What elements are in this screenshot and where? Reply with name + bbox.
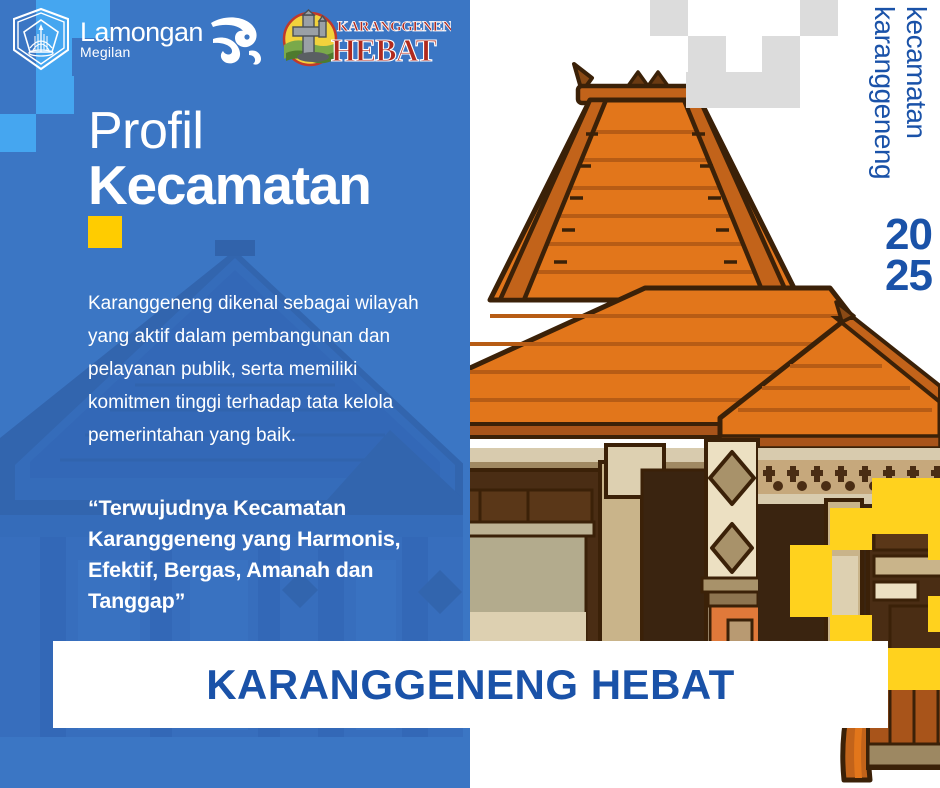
yellow-accent-square (88, 216, 122, 248)
gray-check-9 (686, 72, 724, 108)
yellow-check-2 (830, 508, 872, 550)
gray-check-7 (724, 72, 762, 108)
wordmark-line-2: Megilan (80, 45, 203, 60)
year-top: 20 (885, 214, 932, 255)
karanggeneng-hebat-badge: KARANGGENENG HEBAT (279, 9, 451, 69)
gray-check-5 (800, 0, 838, 36)
gray-check-2 (650, 0, 688, 36)
yellow-check-3 (790, 545, 832, 617)
logo-row: Lamongan Megilan (8, 6, 451, 72)
year-bottom: 25 (885, 255, 932, 296)
gray-check-6 (762, 36, 800, 72)
bottom-banner-title: KARANGGENENG HEBAT (206, 661, 735, 709)
yellow-check-4 (928, 518, 940, 560)
gray-check-4 (688, 36, 726, 72)
accent-check-5 (0, 114, 36, 152)
gray-check-8 (762, 72, 800, 108)
title-line-kecamatan: Kecamatan (88, 155, 371, 215)
intro-paragraph: Karanggeneng dikenal sebagai wilayah yan… (88, 287, 438, 452)
lamongan-crest-icon (8, 6, 74, 72)
bottom-banner: KARANGGENENG HEBAT (53, 641, 888, 728)
vision-quote: “Terwujudnya Kecamatan Karanggeneng yang… (88, 493, 443, 617)
title-line-profil: Profil (88, 103, 371, 159)
vertical-label-karanggeneng: karanggeneng (868, 6, 900, 179)
poster-root: Profil Kecamatan Karanggeneng dikenal se… (0, 0, 940, 788)
vertical-label-kecamatan: kecamatan (900, 6, 932, 138)
lamongan-wordmark: Lamongan Megilan (80, 19, 203, 60)
wordmark-line-1: Lamongan (80, 19, 203, 45)
year-stamp: 20 25 (885, 214, 932, 296)
lamongan-fish-wave-icon (205, 11, 267, 67)
yellow-check-7 (928, 596, 940, 632)
page-title: Profil Kecamatan (88, 103, 371, 215)
hebat-badge-line2: HEBAT (331, 32, 436, 68)
accent-check-4 (36, 76, 74, 114)
